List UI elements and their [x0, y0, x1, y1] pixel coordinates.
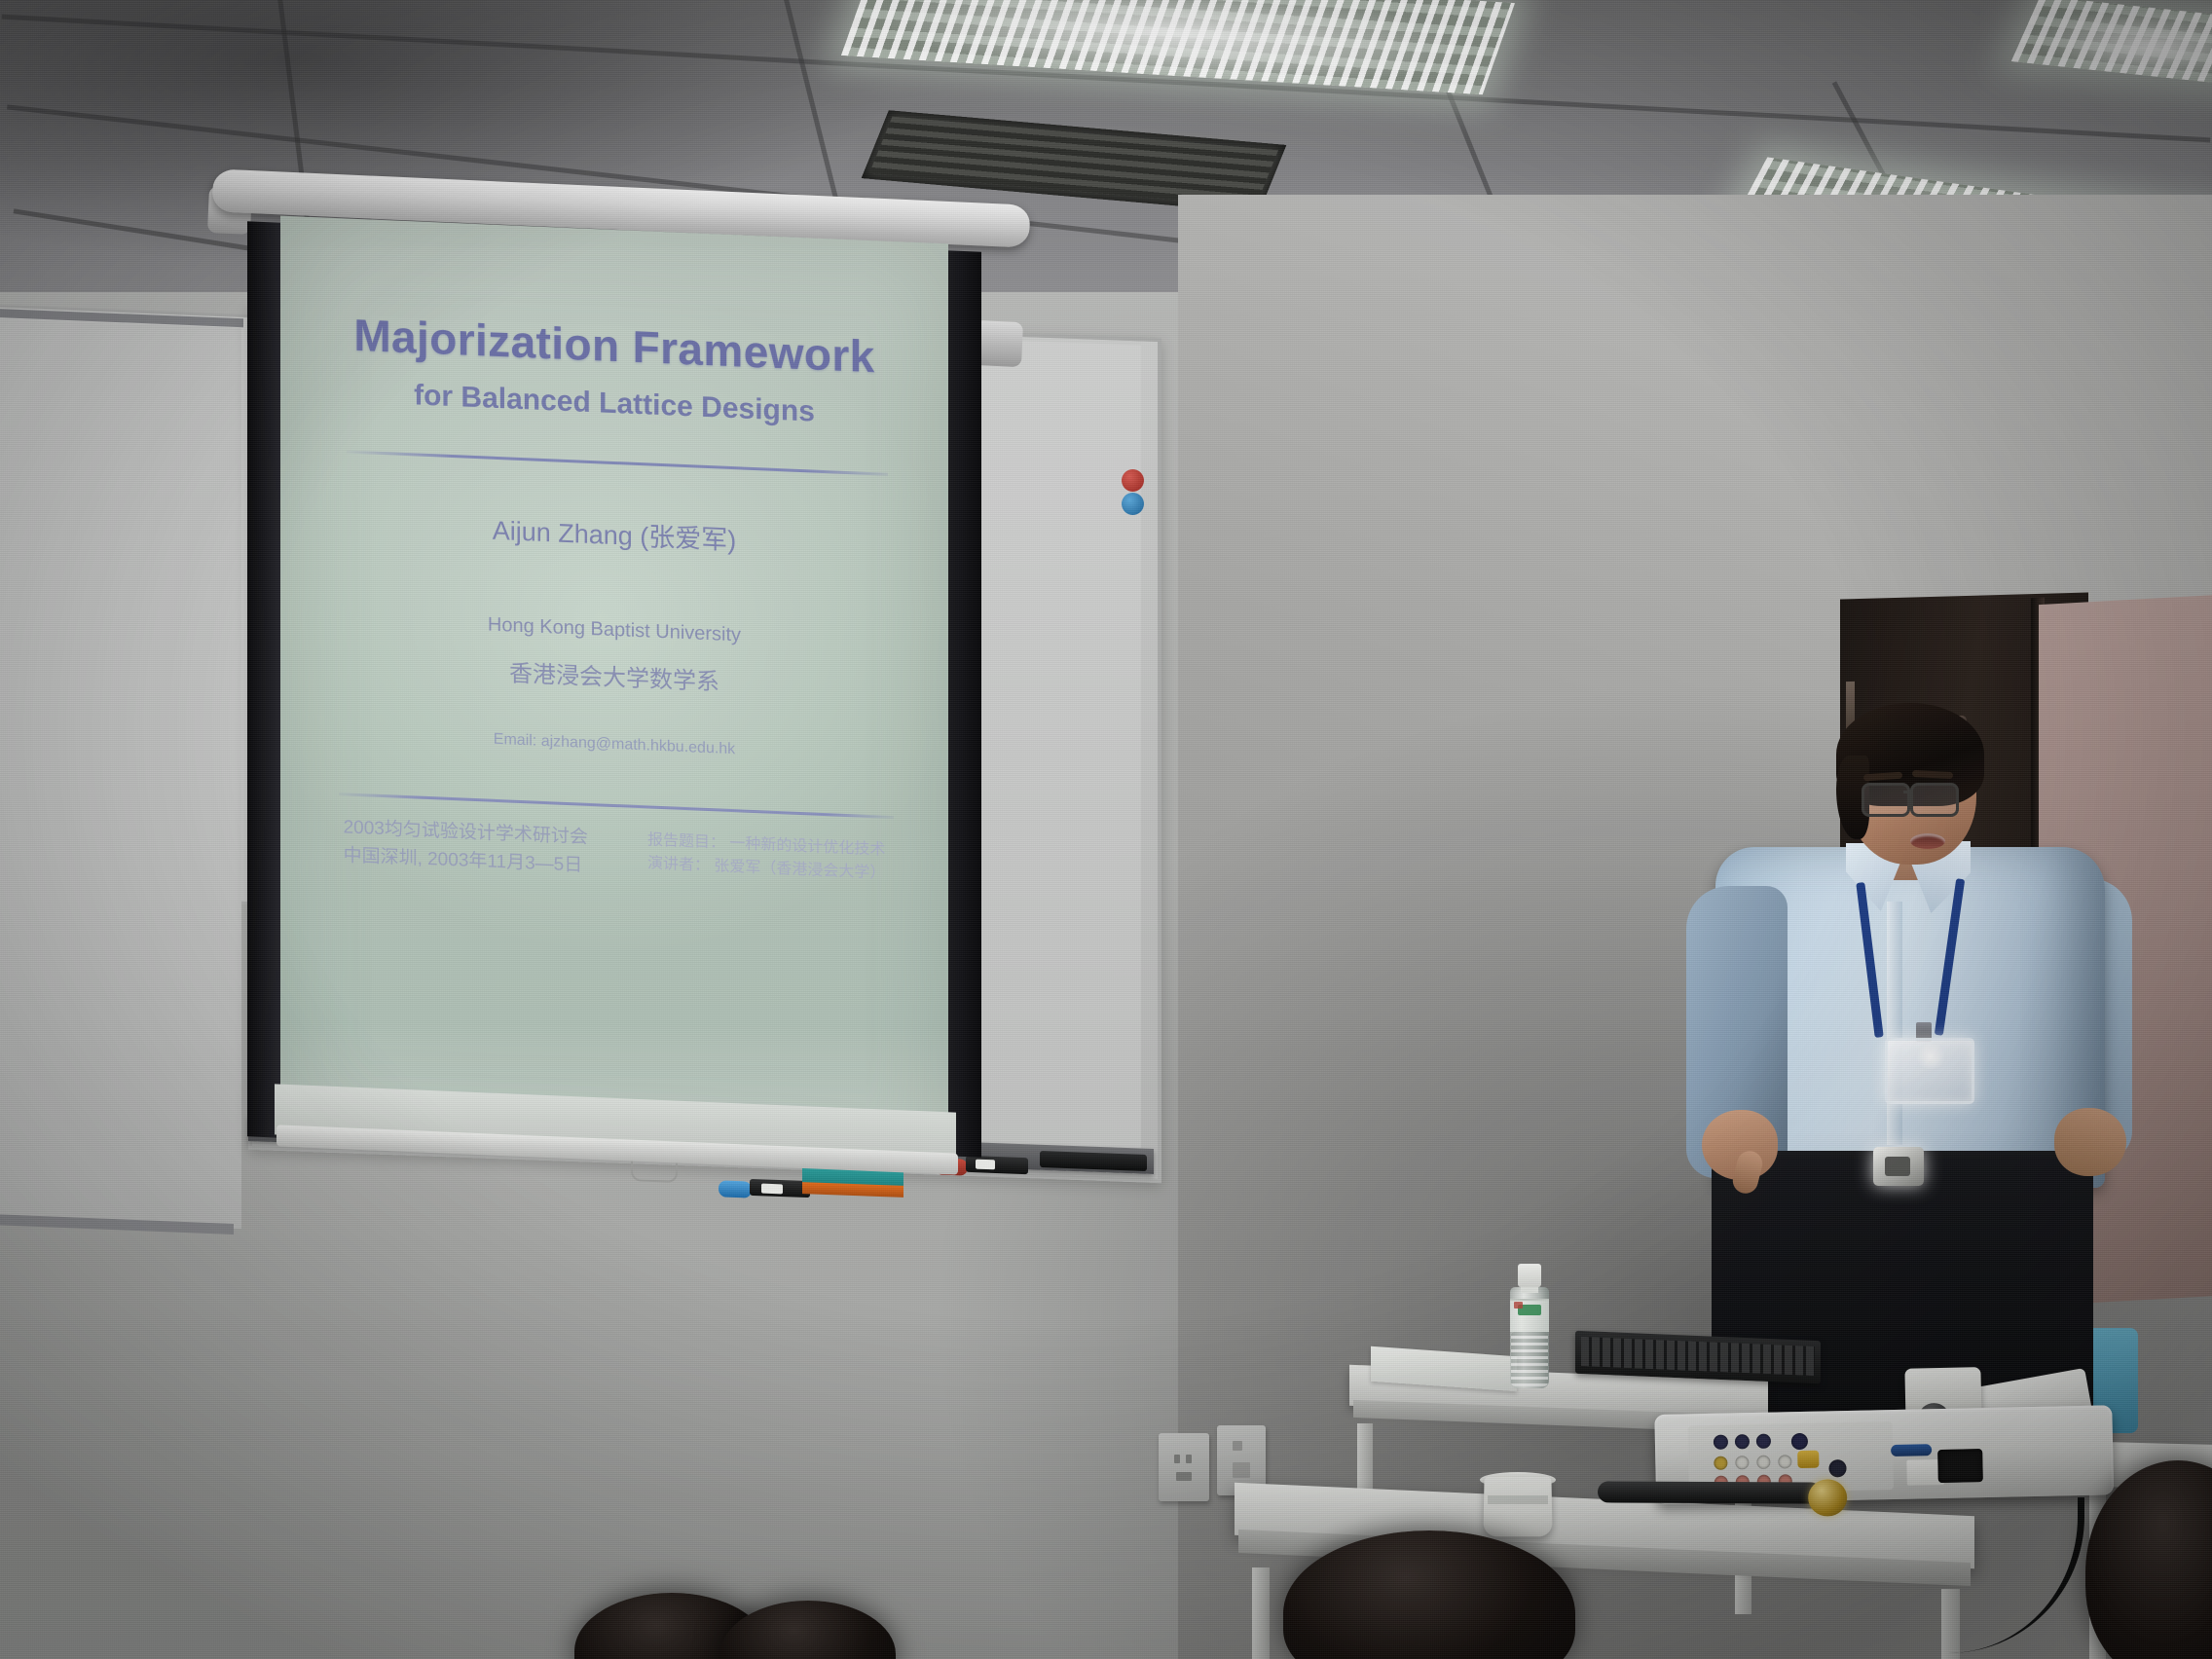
keyboard-keys — [1581, 1337, 1815, 1376]
shirt-placket — [1887, 902, 1902, 1145]
slide-author: Aijun Zhang (张爱军) — [280, 500, 948, 567]
slide-subtitle: for Balanced Lattice Designs — [280, 374, 948, 435]
slide-title: Majorization Framework — [280, 306, 948, 387]
eyeglasses-bridge — [1903, 791, 1913, 793]
water-bottle-cap — [1518, 1264, 1541, 1287]
overhead-projector[interactable] — [1654, 1380, 2133, 1508]
water-bottle — [1507, 1262, 1552, 1388]
water-bottle-label-red — [1514, 1302, 1523, 1309]
presenter-right-hand — [2054, 1108, 2126, 1176]
power-socket — [1937, 1449, 1983, 1483]
red-magnet — [1122, 469, 1144, 492]
paper-cup-band — [1488, 1495, 1548, 1504]
paper-cup — [1483, 1477, 1552, 1537]
belt-buckle-tongue — [1885, 1157, 1910, 1176]
marker-cap-label-2 — [976, 1160, 995, 1170]
slide-email: Email: ajzhang@math.hkbu.edu.hk — [280, 722, 948, 768]
wall-outlet-left — [1159, 1433, 1209, 1501]
eyeglasses-lens-left — [1862, 783, 1910, 817]
vga-port — [1891, 1444, 1932, 1456]
badge-glare — [1914, 1044, 1947, 1069]
slide-footer: 2003均匀试验设计学术研讨会 中国深圳, 2003年11月3—5日 报告题目：… — [280, 812, 948, 896]
projector-cable-bundle — [1598, 1481, 1822, 1503]
left-whiteboard-surface — [0, 318, 241, 1229]
blue-magnet — [1122, 493, 1144, 515]
slide-footer-right: 报告题目： 一种新的设计优化技术 演讲者： 张爱军（香港浸会大学） — [647, 827, 885, 885]
screen-border-left — [247, 221, 280, 1137]
presenter-mouth — [1910, 833, 1945, 849]
water-bottle-ribs — [1511, 1332, 1548, 1386]
eyeglasses-lens-right — [1910, 783, 1959, 817]
slide-footer-left: 2003均匀试验设计学术研讨会 中国深圳, 2003年11月3—5日 — [344, 814, 588, 880]
seminar-room-photo: Majorization Framework for Balanced Latt… — [0, 0, 2212, 1659]
slide-divider-bottom — [339, 793, 894, 819]
projection-screen-surface: Majorization Framework for Balanced Latt… — [280, 216, 948, 1169]
presenter — [1694, 701, 2142, 1441]
slide-divider-top — [347, 450, 888, 475]
front-table-leg-left — [1252, 1567, 1270, 1659]
slide-organization-cn: 香港浸会大学数学系 — [280, 645, 948, 707]
marker-cap-label — [761, 1184, 783, 1195]
cable-plug-yellow — [1797, 1451, 1819, 1468]
screen-border-right — [946, 250, 981, 1158]
blue-marker — [719, 1180, 752, 1198]
